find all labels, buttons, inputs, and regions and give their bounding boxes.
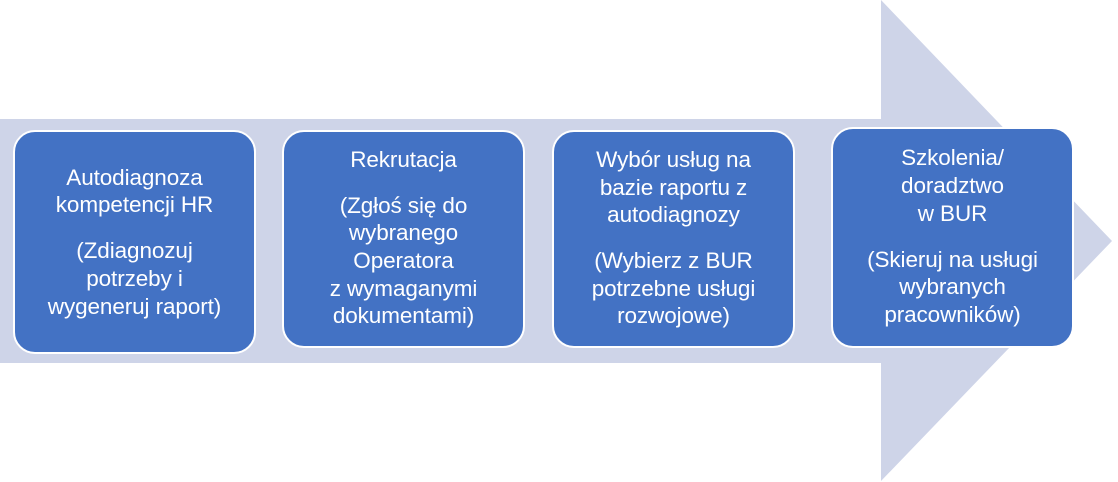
process-step-2[interactable]: Rekrutacja (Zgłoś się do wybranego Opera… <box>282 130 525 348</box>
process-step-1-subtitle: (Zdiagnozuj potrzeby i wygeneruj raport) <box>23 237 246 320</box>
process-flow-diagram: Autodiagnoza kompetencji HR (Zdiagnozuj … <box>0 0 1118 482</box>
process-step-2-title: Rekrutacja <box>292 146 515 174</box>
process-step-4-title: Szkolenia/ doradztwo w BUR <box>841 144 1064 227</box>
process-step-1-title: Autodiagnoza kompetencji HR <box>23 164 246 219</box>
process-step-3[interactable]: Wybór usług na bazie raportu z autodiagn… <box>552 130 795 348</box>
process-step-3-subtitle: (Wybierz z BUR potrzebne usługi rozwojow… <box>562 247 785 330</box>
process-step-2-subtitle: (Zgłoś się do wybranego Operatora z wyma… <box>292 192 515 330</box>
process-step-4[interactable]: Szkolenia/ doradztwo w BUR (Skieruj na u… <box>831 127 1074 348</box>
process-step-1[interactable]: Autodiagnoza kompetencji HR (Zdiagnozuj … <box>13 130 256 354</box>
process-step-3-title: Wybór usług na bazie raportu z autodiagn… <box>562 146 785 229</box>
process-step-4-subtitle: (Skieruj na usługi wybranych pracowników… <box>841 246 1064 329</box>
